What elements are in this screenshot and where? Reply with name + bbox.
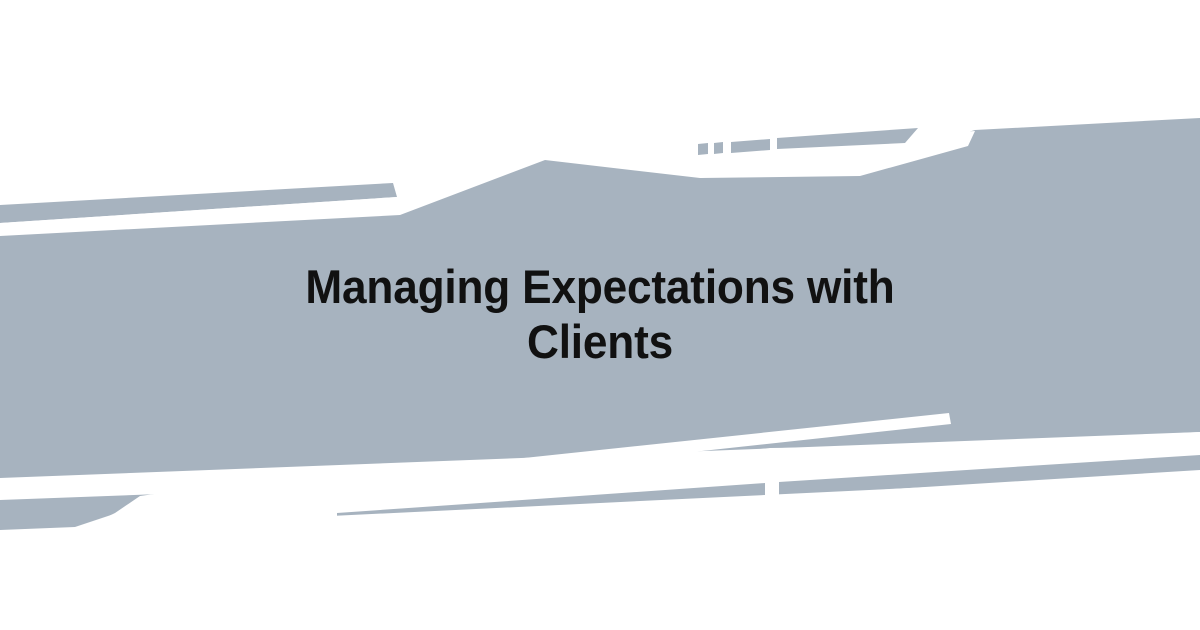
top-dash-square-1	[698, 143, 708, 155]
banner-decoration-svg	[0, 0, 1200, 630]
top-dash-square-2	[714, 142, 723, 154]
banner-graphic: Managing Expectations with Clients	[0, 0, 1200, 630]
